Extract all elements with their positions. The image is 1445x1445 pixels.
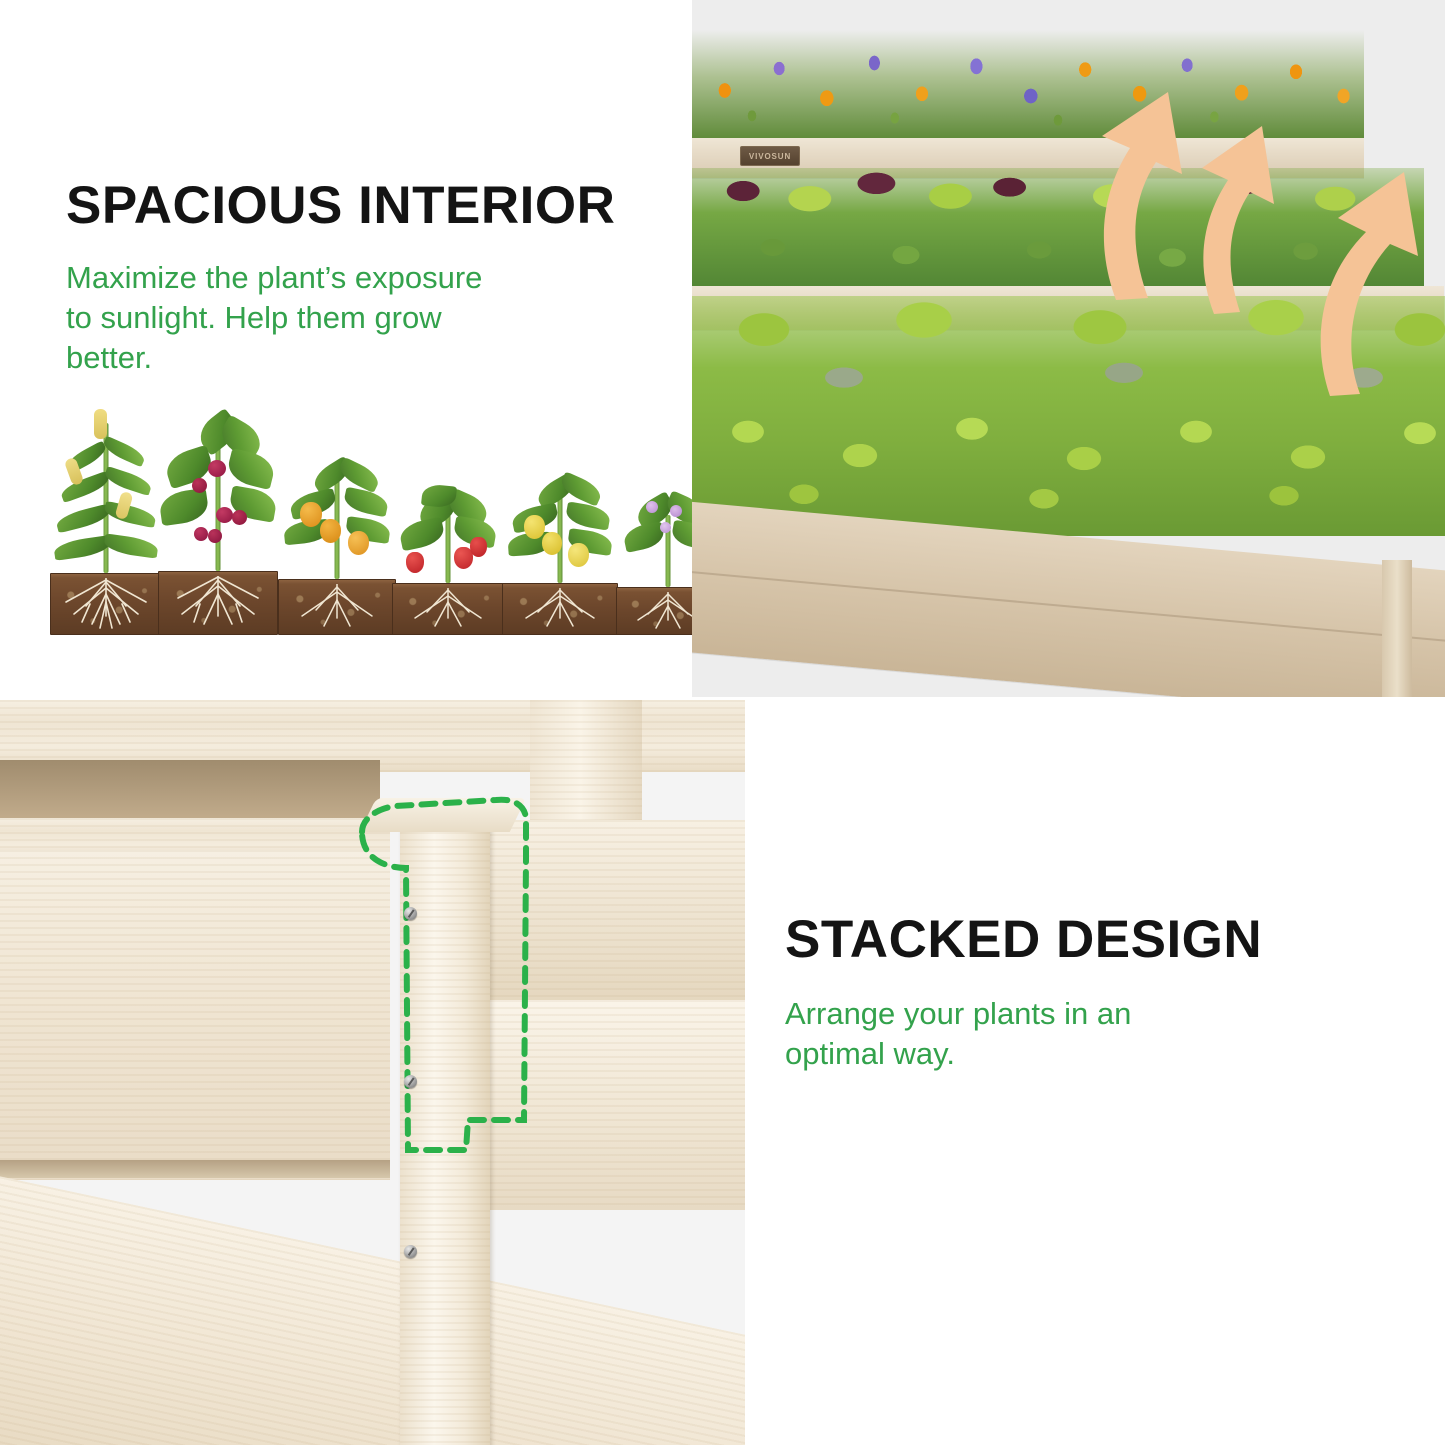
plant-orange-pepper: [278, 435, 396, 635]
spacious-interior-text-block: SPACIOUS INTERIOR Maximize the plant’s e…: [66, 178, 666, 379]
panel-stacked-design: STACKED DESIGN Arrange your plants in an…: [745, 700, 1445, 1445]
pepper-fruit: [300, 502, 322, 527]
pepper-fruit: [568, 543, 589, 567]
panel-joint-closeup-photo: [0, 700, 745, 1445]
tiered-garden-bed: VIVOSUN: [692, 0, 1445, 697]
root-system: [516, 586, 604, 632]
plant-flowering-potato: [616, 463, 692, 635]
stacked-design-headline: STACKED DESIGN: [785, 912, 1405, 968]
strawberry-fruit: [406, 552, 424, 573]
mid-shadow-gap: [0, 1160, 390, 1178]
raspberry-fruit: [208, 529, 222, 543]
corn-cob: [94, 409, 107, 439]
brand-plate-label: VIVOSUN: [749, 152, 791, 161]
panel-tiered-garden-photo: VIVOSUN: [692, 0, 1445, 697]
root-system: [170, 574, 266, 632]
pepper-fruit: [348, 531, 369, 555]
raspberry-fruit: [216, 507, 233, 523]
product-brand-plate: VIVOSUN: [740, 146, 800, 166]
pepper-fruit: [542, 532, 562, 555]
plant-raspberry: [158, 400, 278, 635]
pepper-fruit: [320, 519, 341, 543]
soil-block: [278, 579, 396, 635]
left-lower-board: [0, 850, 390, 1180]
spacious-interior-subcopy: Maximize the plant’s exposure to sunligh…: [66, 258, 516, 379]
potato-flower: [660, 522, 671, 533]
post-highlight-outline: [348, 790, 578, 1210]
soil-block: [616, 587, 692, 635]
root-system: [628, 590, 692, 632]
upper-shadow-gap: [0, 760, 380, 822]
root-system: [60, 576, 152, 632]
potato-flower: [670, 505, 682, 517]
spacious-interior-headline: SPACIOUS INTERIOR: [66, 178, 666, 234]
raspberry-fruit: [232, 510, 247, 525]
diagonal-lower-board: [0, 1170, 745, 1445]
airflow-arrow-3: [1304, 148, 1434, 398]
screw-fastener: [404, 907, 417, 920]
screw-fastener: [404, 1075, 417, 1088]
raspberry-fruit: [208, 460, 226, 477]
wood-joint-closeup: [0, 700, 745, 1445]
airflow-arrow-2: [1192, 100, 1302, 315]
raspberry-fruit: [192, 478, 207, 493]
root-system: [292, 582, 382, 632]
raspberry-fruit: [194, 527, 208, 541]
potato-flower: [646, 501, 658, 513]
strawberry-fruit: [470, 537, 487, 557]
stacked-design-subcopy: Arrange your plants in an optimal way.: [785, 994, 1225, 1075]
plant-yellow-pepper: [502, 445, 618, 635]
stacked-design-text-block: STACKED DESIGN Arrange your plants in an…: [785, 912, 1405, 1074]
screw-fastener: [404, 1245, 417, 1258]
soil-block: [502, 583, 618, 635]
pepper-fruit: [524, 515, 545, 539]
soil-block: [158, 571, 278, 635]
bed-support-leg: [1382, 560, 1412, 697]
root-system: [405, 586, 491, 632]
soil-block: [392, 583, 504, 635]
plant-illustration-row: [50, 400, 670, 635]
product-feature-collage: SPACIOUS INTERIOR Maximize the plant’s e…: [0, 0, 1445, 1445]
panel-spacious-interior: SPACIOUS INTERIOR Maximize the plant’s e…: [0, 0, 692, 697]
plant-strawberry: [392, 457, 504, 635]
soil-block: [50, 573, 162, 635]
plant-corn: [50, 407, 162, 635]
